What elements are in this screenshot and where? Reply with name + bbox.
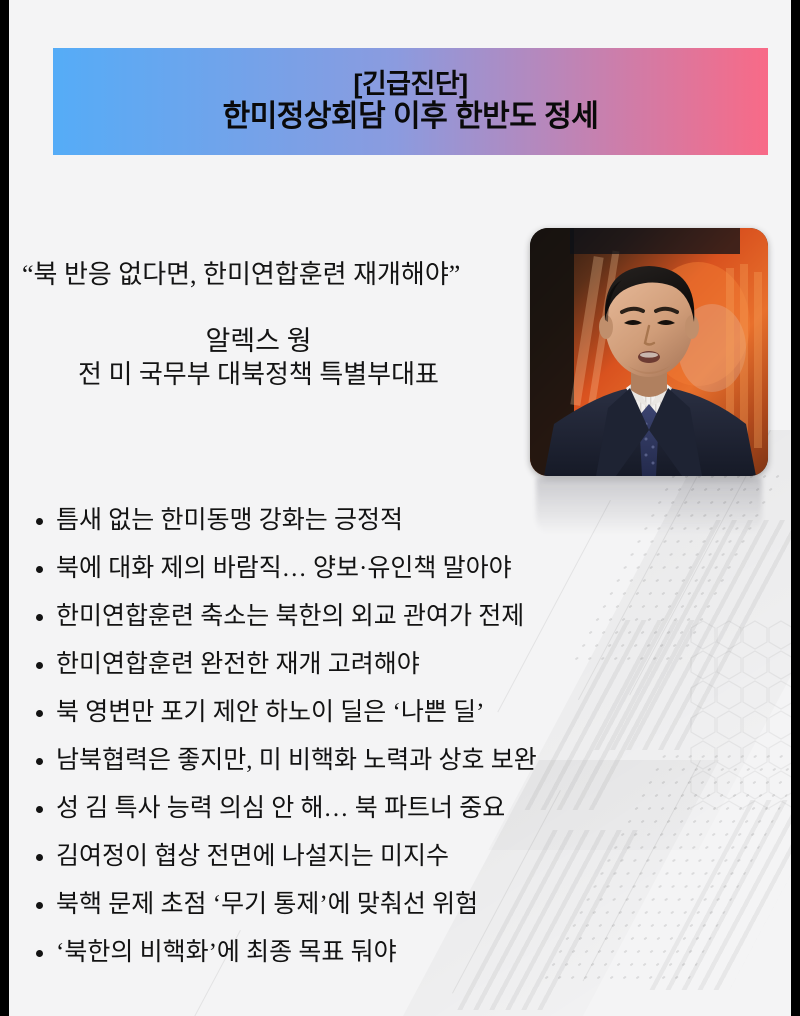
speaker-photo-container bbox=[530, 228, 768, 476]
list-item: 성 김 특사 능력 의심 안 해… 북 파트너 중요 bbox=[34, 785, 734, 833]
speaker-photo bbox=[530, 228, 768, 476]
list-item: 한미연합훈련 완전한 재개 고려해야 bbox=[34, 641, 734, 689]
list-item: ‘북한의 비핵화’에 최종 목표 둬야 bbox=[34, 929, 734, 977]
speaker-title: 전 미 국무부 대북정책 특별부대표 bbox=[0, 358, 517, 392]
list-item: 김여정이 협상 전면에 나설지는 미지수 bbox=[34, 833, 734, 881]
left-edge-bar bbox=[0, 0, 9, 1016]
list-item: 북에 대화 제의 바람직… 양보·유인책 말아야 bbox=[34, 545, 734, 593]
banner-title-bracket: [긴급진단] bbox=[353, 69, 467, 100]
key-points-list: 틈새 없는 한미동맹 강화는 긍정적 북에 대화 제의 바람직… 양보·유인책 … bbox=[34, 497, 734, 977]
list-item: 틈새 없는 한미동맹 강화는 긍정적 bbox=[34, 497, 734, 545]
list-item: 북 영변만 포기 제안 하노이 딜은 ‘나쁜 딜’ bbox=[34, 689, 734, 737]
list-item: 한미연합훈련 축소는 북한의 외교 관여가 전제 bbox=[34, 593, 734, 641]
header-banner: [긴급진단] 한미정상회담 이후 한반도 정세 bbox=[53, 48, 768, 155]
card-news-page: [긴급진단] 한미정상회담 이후 한반도 정세 bbox=[0, 0, 800, 1016]
speaker-info: 알렉스 웡 전 미 국무부 대북정책 특별부대표 bbox=[0, 324, 525, 392]
right-edge-bar bbox=[791, 0, 800, 1016]
list-item: 남북협력은 좋지만, 미 비핵화 노력과 상호 보완 bbox=[34, 737, 734, 785]
speaker-portrait-illustration bbox=[530, 228, 768, 476]
quote-text: “북 반응 없다면, 한미연합훈련 재개해야” bbox=[0, 258, 525, 292]
banner-title-main: 한미정상회담 이후 한반도 정세 bbox=[223, 100, 599, 134]
list-item: 북핵 문제 초점 ‘무기 통제’에 맞춰선 위험 bbox=[34, 881, 734, 929]
quote-block: “북 반응 없다면, 한미연합훈련 재개해야” 알렉스 웡 전 미 국무부 대북… bbox=[0, 258, 525, 392]
speaker-name: 알렉스 웡 bbox=[0, 324, 517, 359]
